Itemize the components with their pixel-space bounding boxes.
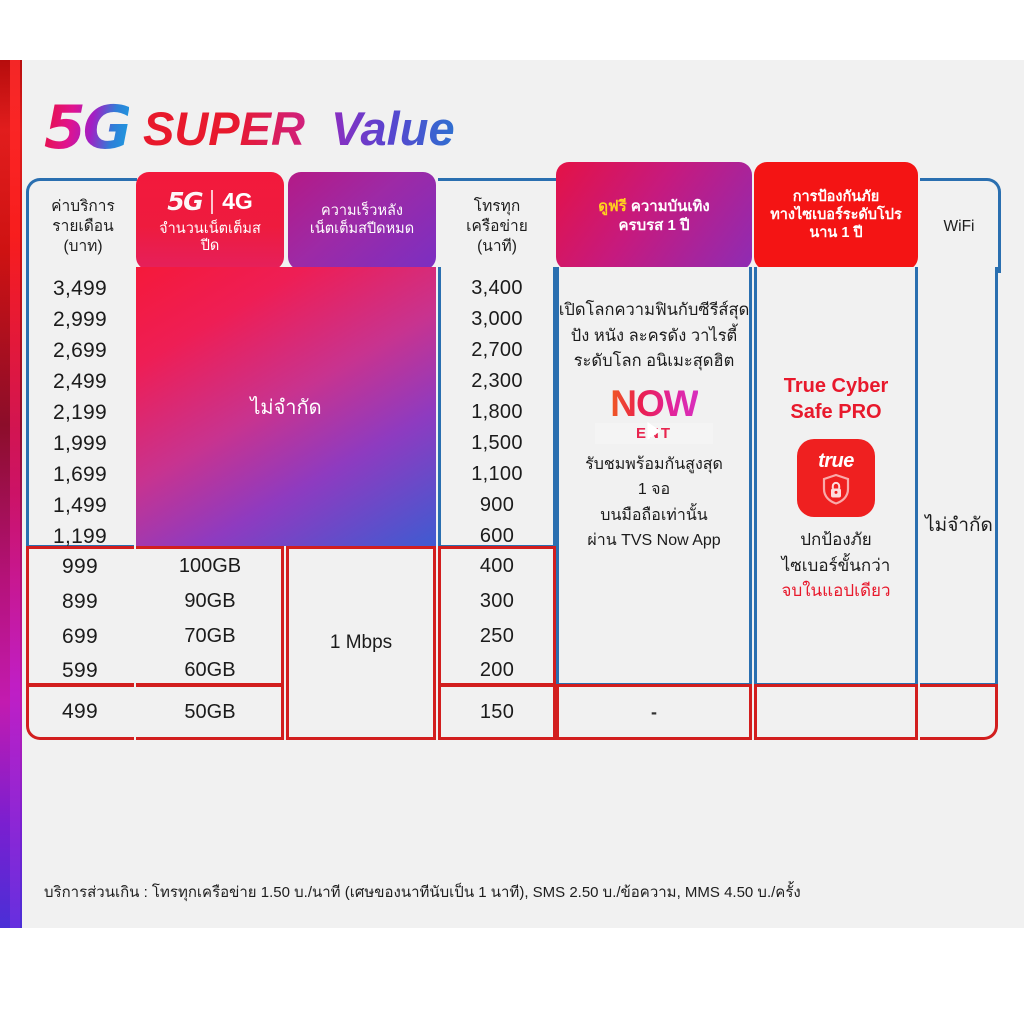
wifi-value: ไม่จำกัด — [920, 508, 998, 542]
logo-5g: 5G — [44, 98, 129, 158]
table-row-price: 3,499 — [26, 273, 134, 304]
cyber-desc-line2: ไซเบอร์ขั้นกว่า — [756, 553, 916, 579]
left-gradient-strip-inner — [10, 60, 20, 928]
entertainment-dash: - — [651, 702, 657, 723]
cyber-bottom-frame — [754, 684, 918, 740]
table-row-price: 2,499 — [26, 366, 134, 397]
table-row-data: 90GB — [136, 584, 284, 619]
table-row-minutes: 3,400 — [438, 273, 556, 304]
header-wifi-label: WiFi — [944, 217, 975, 237]
now-wordmark: NOW — [610, 385, 697, 422]
table-row-price: 1,999 — [26, 428, 134, 459]
plans-table: ค่าบริการ รายเดือน (บาท) 5G 4G จำนวนเน็ต… — [26, 178, 998, 920]
badge-4g: 4G — [222, 187, 253, 217]
now-logo: NOW — [595, 385, 713, 422]
header-5g-4g-row: 5G 4G — [167, 186, 253, 219]
true-app-icon: true — [797, 439, 875, 517]
header-ent-line1: ดูฟรี ความบันเทิง — [598, 197, 709, 217]
page-title: 5G SUPER Value — [44, 98, 455, 158]
table-row-data: 100GB — [136, 549, 284, 584]
ent-desc-line1: เปิดโลกความฟินกับซีรีส์สุด — [558, 298, 750, 324]
table-row-price: 999 — [26, 549, 134, 584]
table-row-minutes: 150 — [438, 687, 556, 737]
footer-note: บริการส่วนเกิน : โทรทุกเครือข่าย 1.50 บ.… — [44, 880, 984, 904]
table-row-data: 60GB — [136, 654, 284, 687]
header-ent-rest: ความบันเทิง — [631, 198, 710, 215]
header-ent-line2: ครบรส 1 ปี — [618, 216, 689, 236]
header-ent-free: ดูฟรี — [598, 198, 626, 215]
wifi-unlimited-label: ไม่จำกัด — [925, 510, 993, 540]
table-row-minutes: 1,500 — [438, 428, 556, 459]
header-entertainment: ดูฟรี ความบันเทิง ครบรส 1 ปี — [556, 162, 752, 270]
cyber-title-line2: Safe PRO — [756, 400, 916, 426]
table-row-price: 499 — [26, 687, 134, 737]
table-row-minutes: 2,300 — [438, 366, 556, 397]
header-calls: โทรทุก เครือข่าย (นาที) — [438, 178, 556, 273]
promo-poster: 5G SUPER Value ค่าบริการ รายเดือน (บาท) … — [0, 60, 1024, 928]
table-row-price: 899 — [26, 584, 134, 619]
table-row-minutes: 1,100 — [438, 459, 556, 490]
speed-after-value: 1 Mbps — [286, 546, 436, 740]
unlimited-data-block: ไม่จำกัด — [136, 267, 436, 546]
divider-icon — [211, 190, 213, 214]
ent-desc-line3: ระดับโลก อนิเมะสุดฮิต — [558, 349, 750, 375]
header-price-line1: ค่าบริการ — [51, 197, 115, 217]
play-icon — [648, 422, 661, 440]
shield-lock-icon — [819, 472, 853, 506]
table-row-price: 1,699 — [26, 459, 134, 490]
table-row-minutes: 250 — [438, 619, 556, 654]
table-row-data: 70GB — [136, 619, 284, 654]
badge-5g-icon: 5G — [167, 186, 202, 219]
ent-note-line1: รับชมพร้อมกันสูงสุด — [558, 452, 750, 478]
title-super: SUPER — [143, 105, 305, 152]
poster-root: 5G SUPER Value ค่าบริการ รายเดือน (บาท) … — [0, 0, 1024, 1024]
table-row-minutes: 600 — [438, 521, 556, 552]
table-row-minutes: 300 — [438, 584, 556, 619]
table-row-price: 1,199 — [26, 521, 134, 552]
table-row-data: 50GB — [136, 687, 284, 737]
ent-note-line2: 1 จอ — [558, 477, 750, 503]
ent-desc-line2: ปัง หนัง ละครดัง วาไรตี้ — [558, 324, 750, 350]
wifi-bottom-frame — [920, 684, 998, 740]
title-value: Value — [331, 105, 455, 152]
ent-note-line4: ผ่าน TVS Now App — [558, 528, 750, 554]
table-row-price: 599 — [26, 654, 134, 687]
ent-note-line3: บนมือถือเท่านั้น — [558, 503, 750, 529]
header-cyber-line2: ทางไซเบอร์ระดับโปร — [770, 207, 902, 225]
header-data-sub-line1: จำนวนเน็ตเต็มส — [159, 221, 261, 239]
header-speed-line1: ความเร็วหลัง — [321, 203, 403, 221]
header-cyber-line1: การป้องกันภัย — [793, 189, 879, 207]
entertainment-bottom-value: - — [556, 684, 752, 740]
table-row-price: 2,999 — [26, 304, 134, 335]
table-row-minutes: 2,700 — [438, 335, 556, 366]
header-cyber-protection: การป้องกันภัย ทางไซเบอร์ระดับโปร นาน 1 ป… — [754, 162, 918, 270]
speed-after-label: 1 Mbps — [330, 632, 392, 654]
table-row-minutes: 200 — [438, 654, 556, 687]
header-calls-line2: เครือข่าย — [466, 217, 528, 237]
header-data-quota: 5G 4G จำนวนเน็ตเต็มส ปีด — [136, 172, 284, 270]
unlimited-label: ไม่จำกัด — [250, 391, 321, 423]
bottom-letterbox — [0, 928, 1024, 1024]
cyber-desc-line3: จบในแอปเดียว — [756, 578, 916, 604]
entertainment-content: เปิดโลกความฟินกับซีรีส์สุด ปัง หนัง ละคร… — [558, 298, 750, 554]
header-data-sub-line2: ปีด — [201, 238, 220, 256]
table-row-minutes: 400 — [438, 549, 556, 584]
cyber-desc-line1: ปกป้องภัย — [756, 527, 916, 553]
true-wordmark: true — [818, 451, 854, 471]
header-cyber-line3: นาน 1 ปี — [809, 225, 862, 243]
table-row-price: 1,499 — [26, 490, 134, 521]
table-row-price: 2,699 — [26, 335, 134, 366]
cyber-title-line1: True Cyber — [756, 374, 916, 400]
table-row-minutes: 1,800 — [438, 397, 556, 428]
header-wifi: WiFi — [920, 178, 1001, 273]
header-calls-line3: (นาที) — [477, 237, 517, 257]
header-monthly-price: ค่าบริการ รายเดือน (บาท) — [26, 178, 137, 273]
table-row-price: 699 — [26, 619, 134, 654]
wifi-column-frame — [920, 267, 998, 686]
header-price-line3: (บาท) — [63, 237, 102, 257]
header-calls-line1: โทรทุก — [474, 197, 520, 217]
table-row-minutes: 900 — [438, 490, 556, 521]
top-letterbox — [0, 0, 1024, 60]
cyber-content: True Cyber Safe PRO true ปกป้องภัย ไซเบอ… — [756, 374, 916, 604]
table-row-price: 2,199 — [26, 397, 134, 428]
header-speed-after-quota: ความเร็วหลัง เน็ตเต็มสปีดหมด — [288, 172, 436, 270]
header-speed-line2: เน็ตเต็มสปีดหมด — [310, 221, 414, 239]
table-row-minutes: 3,000 — [438, 304, 556, 335]
header-price-line2: รายเดือน — [52, 217, 113, 237]
